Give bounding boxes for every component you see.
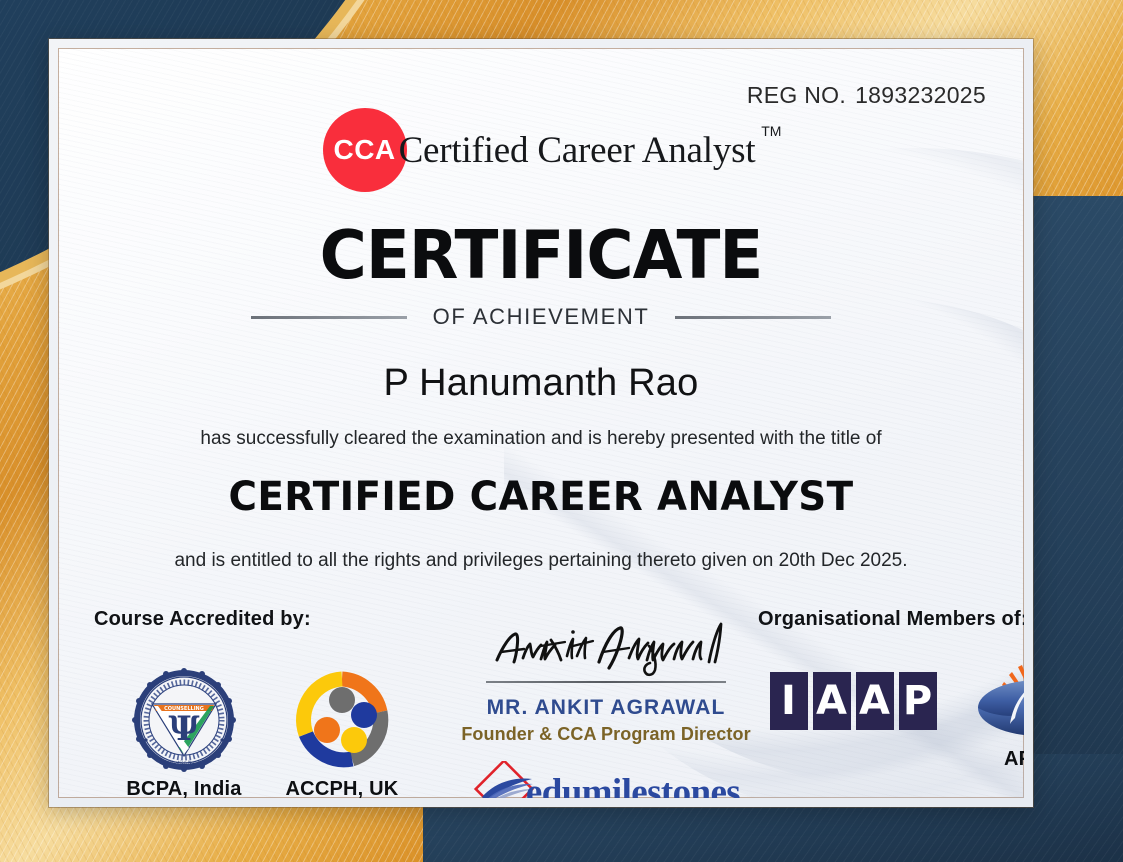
certificate-footer: Course Accredited by: Organisational Mem… xyxy=(58,596,1024,798)
accreditor-caption: BCPA, India xyxy=(96,778,272,798)
certificate-document: REG NO.1893232025 CCA Certified Career A… xyxy=(0,0,1123,862)
signatory-role: Founder & CCA Program Director xyxy=(446,724,766,745)
subtitle-row: OF ACHIEVEMENT xyxy=(58,304,1024,330)
certificate-content: REG NO.1893232025 CCA Certified Career A… xyxy=(58,48,1024,798)
iaap-letter-block: A xyxy=(813,672,851,730)
accredited-by-heading: Course Accredited by: xyxy=(94,608,311,631)
cca-badge-icon: CCA xyxy=(323,108,407,192)
body-line-first: has successfully cleared the examination… xyxy=(58,428,1024,450)
divider-right xyxy=(675,316,831,319)
svg-text:Registration No. 1999: Registration No. 1999 xyxy=(160,760,209,766)
apcda-sunrise-icon xyxy=(975,656,1024,742)
certificate-paper-frame: REG NO.1893232025 CCA Certified Career A… xyxy=(49,39,1033,807)
signatory-name: MR. ANKIT AGRAWAL xyxy=(446,696,766,720)
brand-lockup: CCA Certified Career AnalystTM xyxy=(58,108,1024,192)
body-line-second: and is entitled to all the rights and pr… xyxy=(58,550,1024,572)
issuer-logo: edumilestones xyxy=(446,761,766,798)
brand-name-text: Certified Career Analyst xyxy=(399,130,756,171)
iaap-letter-block: P xyxy=(899,672,937,730)
registration-label: REG NO. xyxy=(747,82,846,108)
accreditor-bcpa: COUNSELLING Ψ Registration No. 1999 BCPA… xyxy=(96,668,272,798)
registration-value: 1893232025 xyxy=(855,82,986,108)
member-caption: APCDA xyxy=(960,748,1024,771)
bcpa-seal-icon: COUNSELLING Ψ Registration No. 1999 xyxy=(132,668,236,772)
iaap-letter-block: I xyxy=(770,672,808,730)
divider-left xyxy=(251,316,407,319)
iaap-letter-block: A xyxy=(856,672,894,730)
recipient-name: P Hanumanth Rao xyxy=(58,362,1024,405)
signature-line xyxy=(486,681,726,683)
accph-pinwheel-icon xyxy=(290,668,394,772)
handwritten-signature-icon xyxy=(481,618,731,680)
brand-name: Certified Career AnalystTM xyxy=(399,129,760,172)
member-iaap: I A A P xyxy=(758,672,948,730)
trademark-icon: TM xyxy=(761,123,781,139)
accreditor-caption: ACCPH, UK xyxy=(254,778,430,798)
svg-text:Ψ: Ψ xyxy=(168,709,199,749)
iaap-blocks-icon: I A A P xyxy=(758,672,948,730)
page-subtitle: OF ACHIEVEMENT xyxy=(433,304,650,330)
issuer-wordmark: edumilestones xyxy=(526,771,740,799)
registration-number: REG NO.1893232025 xyxy=(747,82,986,109)
accreditor-accph: ACCPH, UK xyxy=(254,668,430,798)
signature-block: MR. ANKIT AGRAWAL Founder & CCA Program … xyxy=(446,618,766,798)
award-title: CERTIFIED CAREER ANALYST xyxy=(72,474,1009,520)
member-apcda: APCDA xyxy=(960,656,1024,771)
page-title: CERTIFICATE xyxy=(77,216,1004,294)
certificate-paper: REG NO.1893232025 CCA Certified Career A… xyxy=(58,48,1024,798)
organisational-members-heading: Organisational Members of: xyxy=(758,608,1024,631)
